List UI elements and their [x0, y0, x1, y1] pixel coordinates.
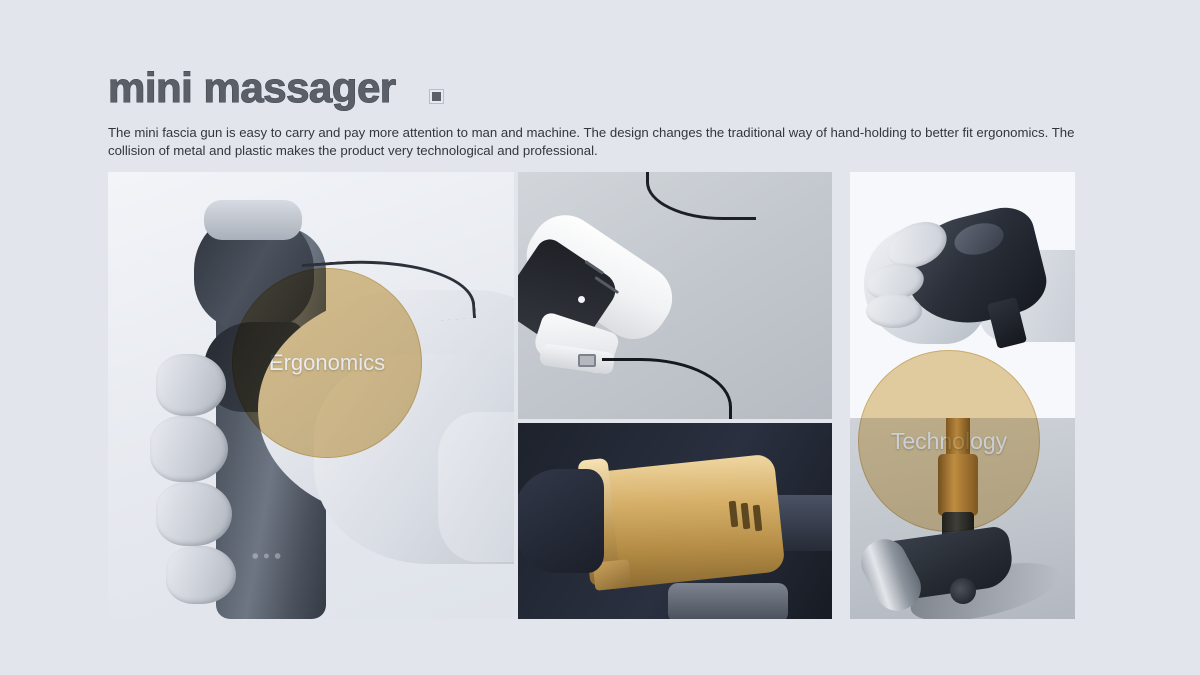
panel-barrel-detail-photo[interactable]: Material\collision — [518, 423, 832, 619]
finger-shape — [150, 416, 228, 482]
title-square-accent — [430, 90, 443, 103]
finger-shape — [156, 354, 226, 416]
base-shape — [668, 583, 788, 619]
highlight-circle-technology[interactable]: Technology — [858, 350, 1040, 532]
dark-head-shape — [518, 469, 604, 573]
page-description: The mini fascia gun is easy to carry and… — [108, 124, 1098, 160]
gun-top-cap-shape — [204, 200, 302, 240]
power-indicator-shape — [578, 296, 585, 303]
finger-shape — [166, 546, 236, 604]
page-title: mini massager — [108, 64, 396, 112]
finger-shape — [156, 482, 232, 546]
highlight-circle-ergonomics[interactable]: Ergonomics — [232, 268, 422, 458]
panel-hand-grip-photo[interactable]: Ergonomics — [108, 172, 514, 619]
brand-logo-mark — [248, 550, 288, 562]
charging-port-shape — [578, 354, 596, 367]
wrist-shape — [438, 412, 514, 562]
highlight-label-technology: Technology — [891, 428, 1007, 455]
panel-white-gun-photo[interactable] — [518, 172, 832, 419]
finger-shape — [866, 294, 922, 328]
highlight-label-ergonomics: Ergonomics — [269, 350, 385, 376]
image-gallery: Ergonomics Material\collision — [108, 172, 1075, 619]
